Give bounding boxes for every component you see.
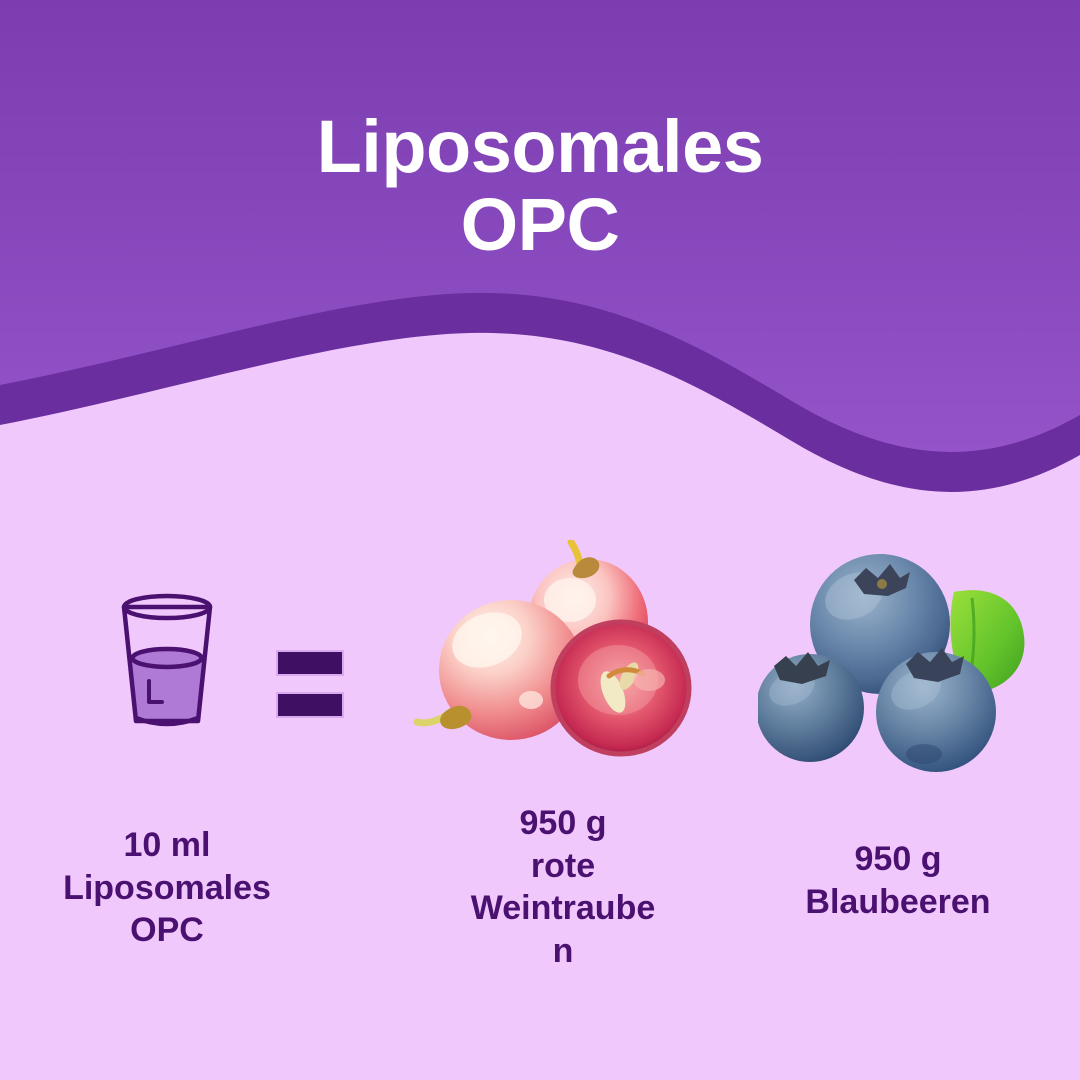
equals-bar-top (276, 650, 344, 676)
red-grapes-photo (413, 540, 713, 790)
comparison-item-liposomal-opc: 10 ml Liposomales OPC (22, 540, 312, 952)
comparison-item-red-grapes: 950 g rote Weintraube n (408, 540, 718, 972)
caption-liposomal-opc: 10 ml Liposomales OPC (22, 824, 312, 952)
comparison-item-blueberries: 950 g Blaubeeren (748, 540, 1048, 923)
blueberries-photo (758, 540, 1038, 790)
infographic-canvas: Liposomales OPC (0, 0, 1080, 1080)
title-line-2: OPC (0, 186, 1080, 264)
comparison-row: 10 ml Liposomales OPC (0, 540, 1080, 1040)
blueberries-art (748, 540, 1048, 790)
page-title: Liposomales OPC (0, 108, 1080, 265)
caption-blueberries: 950 g Blaubeeren (748, 838, 1048, 923)
caption-red-grapes: 950 g rote Weintraube n (408, 802, 718, 972)
equals-sign-icon (255, 650, 365, 718)
title-line-1: Liposomales (0, 108, 1080, 186)
equals-bar-bottom (276, 692, 344, 718)
drinking-glass-icon (102, 585, 232, 745)
grapes-art (408, 540, 718, 790)
